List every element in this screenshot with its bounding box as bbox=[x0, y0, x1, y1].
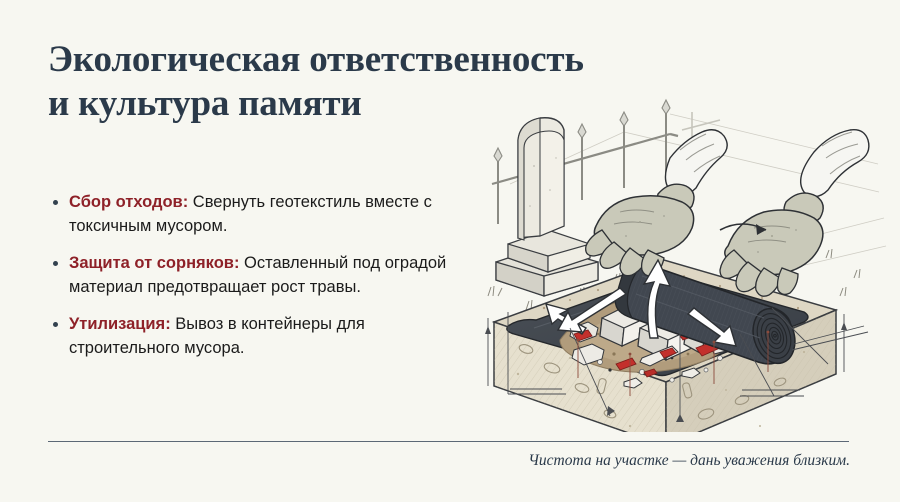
gloved-hand-right-icon bbox=[720, 130, 869, 297]
list-item: Утилизация: Вывоз в контейнеры для строи… bbox=[50, 312, 470, 360]
page-title-line-1: Экологическая ответственность bbox=[48, 38, 518, 82]
page-title: Экологическая ответственность и культура… bbox=[48, 38, 518, 126]
list-item: Сбор отходов: Свернуть геотекстиль вмест… bbox=[50, 190, 470, 238]
bullet-text: Защита от сорняков: Оставленный под огра… bbox=[69, 251, 470, 299]
bullet-list: Сбор отходов: Свернуть геотекстиль вмест… bbox=[50, 190, 470, 373]
bullet-lead-label: Утилизация: bbox=[69, 315, 171, 333]
bullet-text: Утилизация: Вывоз в контейнеры для строи… bbox=[69, 312, 470, 360]
slide-canvas: Экологическая ответственность и культура… bbox=[0, 0, 900, 502]
bullet-dot-icon bbox=[53, 322, 58, 327]
footer-divider bbox=[48, 441, 849, 442]
bullet-text: Сбор отходов: Свернуть геотекстиль вмест… bbox=[69, 190, 470, 238]
bullet-dot-icon bbox=[53, 261, 58, 266]
footer-caption: Чистота на участке — дань уважения близк… bbox=[528, 452, 850, 470]
page-title-line-2: и культура памяти bbox=[48, 82, 518, 126]
bullet-lead-label: Сбор отходов: bbox=[69, 193, 188, 211]
grave-plot-geotextile-illustration bbox=[474, 96, 894, 432]
bullet-dot-icon bbox=[53, 200, 58, 205]
bullet-lead-label: Защита от сорняков: bbox=[69, 254, 239, 272]
list-item: Защита от сорняков: Оставленный под огра… bbox=[50, 251, 470, 299]
